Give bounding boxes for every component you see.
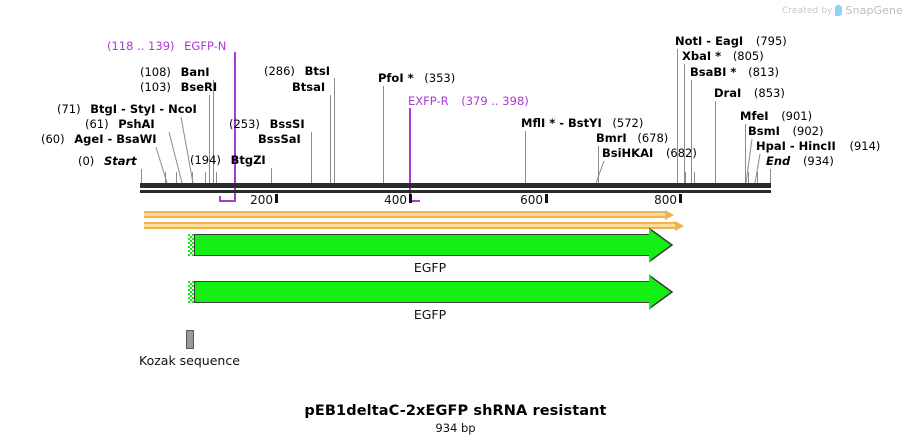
snapgene-credit: Created by SnapGene — [782, 4, 903, 17]
site-names: BanI — [181, 65, 210, 79]
leader-line-btgzi — [271, 168, 272, 183]
site-label-btgi[interactable]: (71) BtgI - StyI - NcoI — [57, 103, 197, 116]
site-label-btgzi[interactable]: (194) BtgZI — [190, 154, 266, 167]
leader-line-tick-103 — [205, 172, 206, 183]
site-label-hpai[interactable]: HpaI - HincII (914) — [756, 140, 880, 153]
leader-line-bseri — [209, 95, 210, 183]
ruler-tick-200 — [275, 194, 278, 203]
leader-line-bsihkai — [594, 161, 612, 183]
leader-line-noti — [677, 49, 678, 183]
site-position: (353) — [424, 71, 455, 85]
site-names: BssSI — [270, 117, 305, 131]
site-position: (682) — [666, 146, 697, 160]
feature-label-egfp-n[interactable]: (118 .. 139) EGFP-N — [107, 40, 226, 53]
leader-line-end — [770, 169, 771, 183]
site-position: (795) — [756, 34, 787, 48]
site-position: (914) — [849, 139, 880, 153]
site-label-bsmi[interactable]: BsmI (902) — [748, 125, 823, 138]
site-position: (194) — [190, 153, 221, 167]
leader-line-agei — [155, 147, 177, 183]
leader-line-start — [141, 169, 142, 183]
primer-arrow-1[interactable] — [144, 211, 674, 218]
leader-line-bsabi — [691, 80, 692, 183]
feature-bracket-egfp-n-tick — [219, 196, 221, 202]
credit-prefix: Created by — [782, 6, 833, 16]
orf-arrow-egfp-2-hatch — [188, 281, 195, 303]
site-names: MflI * - BstYI — [521, 116, 602, 130]
site-position: (813) — [748, 65, 779, 79]
site-position: (805) — [733, 49, 764, 63]
site-position: (572) — [612, 116, 643, 130]
ruler-label-600: 600 — [520, 194, 545, 206]
orf-arrow-egfp-1-hatch — [188, 234, 195, 256]
site-names: XbaI * — [682, 49, 721, 63]
site-label-bsihkai[interactable]: BsiHKAI (682) — [602, 147, 697, 160]
site-names: MfeI — [740, 109, 769, 123]
site-label-drai[interactable]: DraI (853) — [714, 87, 785, 100]
leader-line-btsi — [334, 78, 335, 183]
feature-bracket-egfp-n-foot — [219, 200, 236, 202]
plasmid-size: 934 bp — [0, 421, 911, 435]
site-label-btsi[interactable]: (286) BtsI — [264, 65, 330, 78]
site-position: (678) — [637, 131, 668, 145]
site-label-bsabi[interactable]: BsaBI * (813) — [690, 66, 779, 79]
ruler-label-400: 400 — [384, 194, 409, 206]
site-position: (60) — [41, 132, 65, 146]
leader-line-drai — [715, 101, 716, 183]
orf-arrow-egfp-2[interactable] — [188, 281, 672, 303]
site-names: Start — [104, 154, 137, 168]
leader-line-pfoi — [383, 86, 384, 183]
plasmid-backbone-upper[interactable] — [140, 183, 771, 188]
kozak-sequence-box[interactable] — [186, 330, 194, 349]
feature-range: (118 .. 139) — [107, 39, 175, 53]
site-names: BssSaI — [258, 132, 301, 146]
site-names: HpaI - HincII — [756, 139, 836, 153]
site-label-bsssi[interactable]: (253) BssSI — [229, 118, 305, 131]
site-label-bseri[interactable]: (103) BseRI — [140, 81, 217, 94]
orf-arrow-egfp-1[interactable] — [188, 234, 672, 256]
plasmid-title: pEB1deltaC-2xEGFP shRNA resistant — [0, 403, 911, 419]
orf-arrow-egfp-2-body — [188, 281, 650, 303]
leader-line-btsai — [330, 95, 331, 183]
orf-label-egfp-2: EGFP — [188, 307, 672, 322]
ruler-tick-400 — [409, 194, 412, 203]
leader-line-bani — [213, 80, 214, 183]
kozak-sequence-label: Kozak sequence — [139, 353, 240, 368]
site-label-pfoi[interactable]: PfoI * (353) — [378, 72, 455, 85]
feature-name: EGFP-N — [184, 39, 226, 53]
site-label-xbai[interactable]: XbaI * (805) — [682, 50, 764, 63]
site-names: NotI - EagI — [675, 34, 743, 48]
leader-line-tick-813 — [694, 172, 695, 183]
site-label-agei[interactable]: (60) AgeI - BsaWI — [41, 133, 157, 146]
site-names: BsiHKAI — [602, 146, 653, 160]
site-position: (71) — [57, 102, 81, 116]
site-names: AgeI - BsaWI — [74, 132, 156, 146]
site-names: BmrI — [596, 131, 627, 145]
site-label-bsssai[interactable]: BssSaI — [258, 133, 301, 146]
orf-arrow-egfp-1-body — [188, 234, 650, 256]
site-names: BsmI — [748, 124, 780, 138]
primer-arrow-2-shaft — [144, 222, 675, 229]
site-names: BtgI - StyI - NcoI — [90, 102, 197, 116]
feature-range: (379 .. 398) — [461, 94, 529, 108]
site-position: (902) — [793, 124, 824, 138]
site-names: PfoI * — [378, 71, 414, 85]
site-position: (0) — [78, 154, 94, 168]
snapgene-logo-icon — [835, 5, 842, 16]
site-names: BsaBI * — [690, 65, 736, 79]
site-label-btsai[interactable]: BtsaI — [292, 81, 325, 94]
site-label-bani[interactable]: (108) BanI — [140, 66, 210, 79]
feature-name: EXFP-R — [408, 94, 449, 108]
site-names: BtsI — [305, 64, 330, 78]
site-names: BtgZI — [231, 153, 266, 167]
ruler-label-200: 200 — [250, 194, 275, 206]
site-position: (61) — [85, 117, 109, 131]
leader-line-mfli — [525, 131, 526, 183]
orf-label-egfp-1: EGFP — [188, 260, 672, 275]
primer-arrow-2[interactable] — [144, 222, 684, 229]
site-label-pshai[interactable]: (61) PshAI — [85, 118, 155, 131]
site-names: DraI — [714, 86, 741, 100]
feature-label-exfp-r[interactable]: EXFP-R (379 .. 398) — [408, 95, 529, 108]
site-names: PshAI — [118, 117, 154, 131]
leader-line-tick-108 — [216, 172, 217, 183]
site-position: (853) — [754, 86, 785, 100]
ruler-tick-600 — [545, 194, 548, 203]
leader-line-tick-902 — [748, 172, 749, 183]
ruler-tick-800 — [679, 194, 682, 203]
site-position: (108) — [140, 65, 171, 79]
site-position: (286) — [264, 64, 295, 78]
site-label-mfei[interactable]: MfeI (901) — [740, 110, 812, 123]
ruler-label-800: 800 — [654, 194, 679, 206]
site-label-start[interactable]: (0) Start — [78, 155, 137, 168]
site-label-bmri[interactable]: BmrI (678) — [596, 132, 668, 145]
site-position: (253) — [229, 117, 260, 131]
leader-line-bsssi — [311, 132, 312, 183]
site-position: (901) — [781, 109, 812, 123]
site-position: (103) — [140, 80, 171, 94]
primer-arrow-2-head — [675, 221, 684, 231]
site-label-noti[interactable]: NotI - EagI (795) — [675, 35, 787, 48]
leader-line-tick-61 — [176, 172, 177, 183]
leader-line-hpai — [752, 154, 766, 183]
site-position: (934) — [803, 154, 834, 168]
primer-arrow-1-head — [665, 210, 674, 220]
site-label-mfli[interactable]: MflI * - BstYI (572) — [521, 117, 643, 130]
site-label-end[interactable]: End (934) — [766, 155, 834, 168]
snapgene-brand: SnapGene — [845, 4, 903, 17]
site-names: BseRI — [181, 80, 218, 94]
primer-arrow-1-shaft — [144, 211, 665, 218]
leader-line-tick-71 — [192, 172, 193, 183]
leader-line-tick-805 — [685, 172, 686, 183]
site-names: End — [766, 154, 790, 168]
leader-line-tick-914 — [757, 172, 758, 183]
leader-line-tick-60 — [165, 172, 166, 183]
site-names: BtsaI — [292, 80, 325, 94]
leader-line-xbai — [684, 64, 685, 183]
